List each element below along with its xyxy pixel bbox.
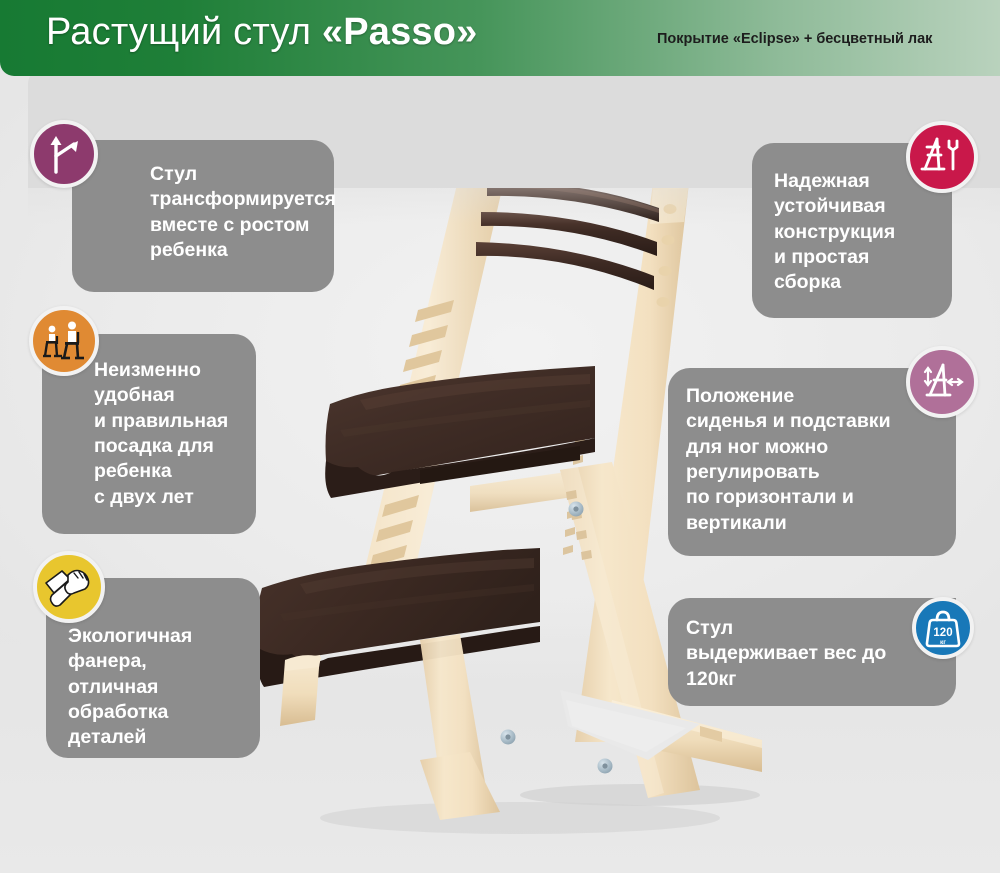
header-bar: Растущий стул «Passo» Покрытие «Eclipse»… (0, 0, 1000, 76)
header-subtitle: Покрытие «Eclipse» + бесцветный лак (657, 31, 932, 47)
chair-wrench-icon (906, 121, 978, 193)
weight-120kg-icon: 120 кг (912, 597, 974, 659)
callout-load-capacity-text: Стул выдерживает вес до 120кг (686, 616, 946, 692)
page-title-brand: «Passo» (322, 11, 478, 53)
weight-value: 120 (933, 627, 952, 639)
page-title-plain: Растущий стул (46, 11, 322, 53)
weight-unit: кг (940, 639, 946, 646)
callout-sturdy-text: Надежная устойчивая конструкция и проста… (774, 169, 942, 296)
infographic-page: Растущий стул «Passo» Покрытие «Eclipse»… (0, 0, 1000, 873)
chair-adjust-arrows-icon (906, 346, 978, 418)
callout-eco-plywood-text: Экологичная фанера, отличная обработка д… (68, 624, 250, 751)
callout-transforms: Стул трансформируется вместе с ростом ре… (72, 140, 334, 292)
callout-comfort-text: Неизменно удобная и правильная посадка д… (94, 358, 246, 510)
page-title: Растущий стул «Passo» (46, 11, 478, 54)
callout-adjustable-text: Положение сиденья и подставки для ног мо… (686, 384, 946, 536)
growth-arrows-icon (30, 120, 98, 188)
callout-load-capacity: Стул выдерживает вес до 120кг (668, 598, 956, 706)
seated-children-icon (29, 306, 99, 376)
callout-transforms-text: Стул трансформируется вместе с ростом ре… (150, 162, 322, 263)
sanding-hands-icon (33, 551, 105, 623)
